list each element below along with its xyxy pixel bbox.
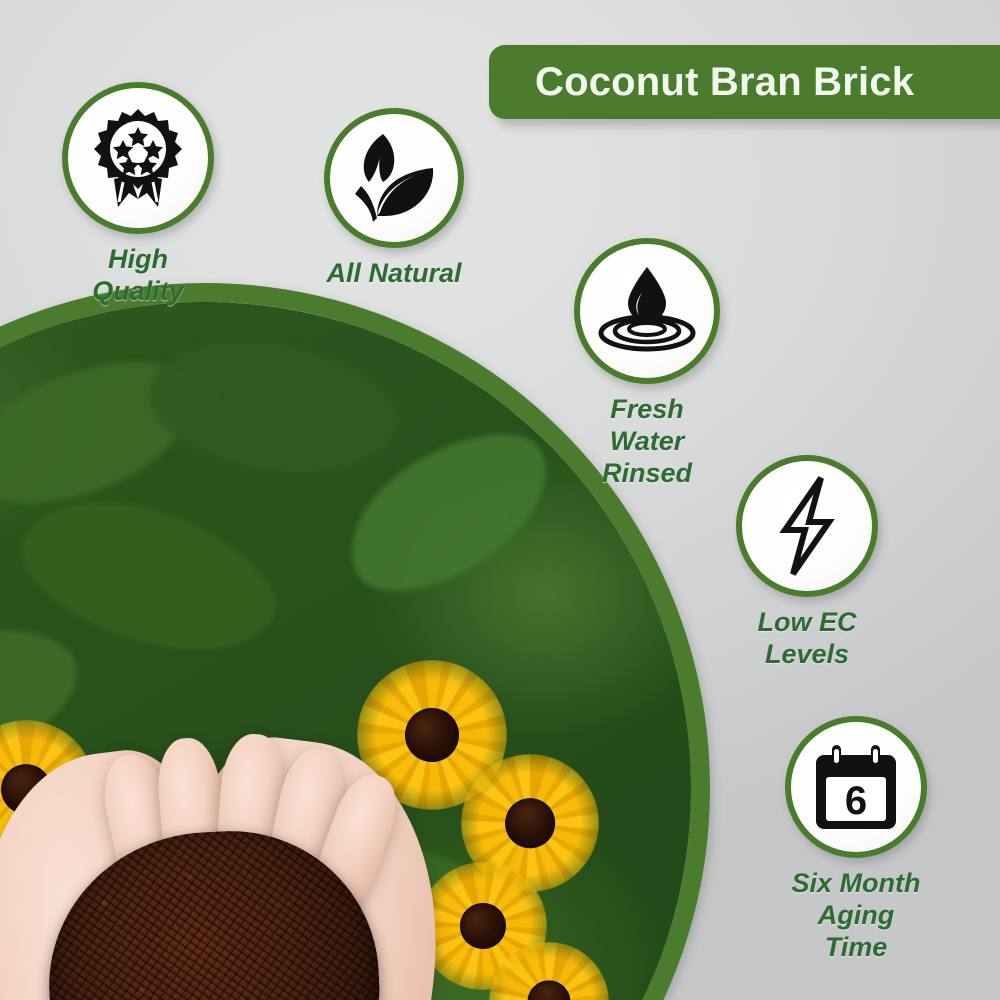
calendar-icon: 6: [810, 741, 902, 833]
badge-label: All Natural: [324, 258, 464, 290]
product-infographic: Coconut Bran Brick High Qua: [0, 0, 1000, 1000]
award-ribbon-icon: [92, 107, 184, 209]
lightning-bolt-icon: [771, 474, 843, 578]
calendar-day-number: 6: [845, 779, 867, 823]
badge-circle: [324, 108, 464, 248]
badge-circle: [574, 238, 720, 384]
badge-all-natural[interactable]: All Natural: [324, 108, 464, 290]
badge-circle: 6: [785, 716, 927, 858]
badge-label: Six Month Aging Time: [785, 868, 927, 964]
leaf-icon: [347, 132, 441, 224]
page-title: Coconut Bran Brick: [535, 62, 914, 102]
badge-fresh-water-rinsed[interactable]: Fresh Water Rinsed: [574, 238, 720, 490]
badge-high-quality[interactable]: High Quality: [62, 82, 214, 308]
badge-circle: [736, 455, 878, 597]
badge-low-ec-levels[interactable]: Low EC Levels: [736, 455, 878, 671]
title-banner: Coconut Bran Brick: [489, 45, 1000, 119]
badge-label: Fresh Water Rinsed: [574, 394, 720, 490]
badge-label: Low EC Levels: [736, 607, 878, 671]
badge-circle: [62, 82, 214, 234]
badge-six-month-aging-time[interactable]: 6 Six Month Aging Time: [785, 716, 927, 964]
badge-label: High Quality: [62, 244, 214, 308]
water-droplet-ripple-icon: [592, 263, 702, 359]
